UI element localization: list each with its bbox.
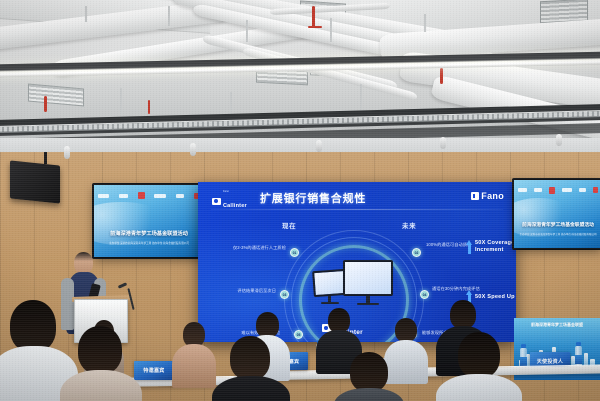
audience-body	[172, 344, 216, 388]
ceiling-speaker-icon	[10, 160, 60, 203]
audience-head	[78, 326, 122, 374]
bullet-left-1: 仅2-3%的通话进行人工质检	[204, 245, 286, 251]
bottle-label	[520, 357, 527, 366]
lower-screen-title: 前海深港青年梦工场基金联盟	[514, 322, 600, 328]
fano-logo-icon	[471, 192, 479, 200]
bottle-label	[575, 355, 582, 364]
right-side-screen: 前海深港青年梦工场基金联盟活动 主办单位:深圳市前海深港青年梦工场 协办单位:前…	[514, 180, 600, 248]
banner-swoosh	[94, 202, 171, 245]
hanger-rod	[230, 92, 232, 116]
left-side-screen: 前海深港青年梦工场基金联盟活动 主办单位:深圳市前海深港青年梦工场 协办单位:前…	[94, 185, 204, 257]
audience-head	[10, 300, 56, 352]
step-node-04: 04	[420, 290, 429, 299]
track-light-icon	[64, 146, 70, 159]
fano-label: Fano	[481, 191, 504, 201]
conference-room-photo: 前海深港青年梦工场基金联盟活动 主办单位:深圳市前海深港青年梦工场 协办单位:前…	[0, 0, 600, 401]
monitor-base	[321, 302, 339, 304]
presenter-head	[74, 252, 93, 274]
brand-top-label: Fano	[223, 191, 247, 194]
kpi-coverage-label: 50X Coverage Increment	[475, 240, 514, 254]
sponsor-logo	[518, 188, 527, 192]
step-node-05: 05	[294, 330, 303, 339]
audience-head	[395, 318, 417, 342]
step-node-01: 01	[290, 248, 299, 257]
bullet-left-2: 评估结果滞后至次日	[204, 288, 276, 294]
sponsor-logo	[154, 194, 166, 198]
audience-body	[436, 374, 522, 401]
speaker-mount	[44, 152, 47, 164]
sprinkler-pipe	[44, 96, 47, 112]
audience-member	[336, 352, 402, 401]
sponsor-logo	[562, 188, 572, 192]
kpi-coverage: 50X Coverage Increment	[466, 240, 514, 254]
bottle-cap	[576, 342, 581, 346]
placard-label: 特邀嘉宾	[143, 367, 164, 374]
slide-title: 扩展银行销售合规性	[260, 190, 366, 206]
callinter-logo-icon	[212, 198, 221, 205]
sprinkler-pipe	[148, 100, 150, 114]
hanger-rod	[424, 14, 426, 32]
track-light-icon	[556, 134, 562, 146]
sponsor-logo-row	[98, 192, 199, 199]
sponsor-logo	[119, 194, 128, 198]
brand-name-label: Callinter	[223, 203, 247, 209]
right-banner-title: 前海深港青年梦工场基金联盟活动	[514, 221, 600, 228]
audience-head	[230, 336, 270, 380]
audience-member	[214, 336, 286, 401]
bottle-cap	[521, 344, 526, 348]
left-banner-subtitle: 主办单位:深圳市前海深港青年梦工场 协办单位:前海金融控股有限公司	[94, 241, 204, 245]
slide-brand-fano: Fano	[471, 191, 504, 201]
hanger-rod	[246, 20, 248, 42]
audience-member	[440, 332, 516, 401]
sponsor-logo	[176, 194, 184, 198]
track-light-icon	[316, 140, 322, 152]
hanger-rod	[120, 88, 122, 114]
hanger-rod	[330, 18, 332, 42]
hanger-rod	[168, 6, 170, 26]
sponsor-logo	[579, 188, 586, 192]
step-node-03: 03	[280, 290, 289, 299]
audience-member	[62, 326, 138, 401]
hanger-rod	[360, 84, 362, 112]
sponsor-logo	[98, 194, 109, 198]
up-arrow-icon	[466, 240, 472, 254]
sponsor-logo	[549, 187, 555, 194]
slide-divider	[211, 209, 504, 210]
hanger-rod	[85, 6, 87, 22]
column-header-future: 未来	[402, 220, 416, 230]
audience-head	[458, 332, 500, 378]
placard-front-left: 特邀嘉宾	[134, 361, 174, 380]
audience-member	[172, 322, 216, 382]
sprinkler-pipe	[308, 26, 322, 28]
hvac-vent-icon	[28, 84, 84, 107]
sponsor-logo	[593, 187, 598, 193]
audience-head	[450, 300, 476, 329]
monitor-primary	[343, 260, 393, 296]
audience-body	[334, 388, 404, 401]
sponsor-logo	[138, 192, 145, 199]
column-header-now: 现在	[282, 220, 296, 230]
left-banner-title: 前海深港青年梦工场基金联盟活动	[94, 230, 204, 237]
sprinkler-pipe	[312, 6, 315, 28]
sponsor-logo	[534, 188, 542, 192]
sponsor-logo-row	[518, 187, 599, 194]
track-light-icon	[190, 143, 196, 156]
monitor-base	[357, 303, 379, 305]
ceiling	[0, 0, 600, 150]
placard-label: 天使投资人	[537, 358, 564, 365]
sprinkler-pipe	[440, 68, 443, 84]
audience-body	[60, 370, 142, 401]
audience-body	[212, 376, 290, 401]
step-node-02: 02	[412, 248, 421, 257]
audience-head	[350, 352, 388, 392]
track-light-icon	[440, 137, 446, 149]
right-banner-subtitle: 主办单位:深圳市前海深港青年梦工场 协办单位:前海金融控股有限公司	[514, 232, 600, 236]
